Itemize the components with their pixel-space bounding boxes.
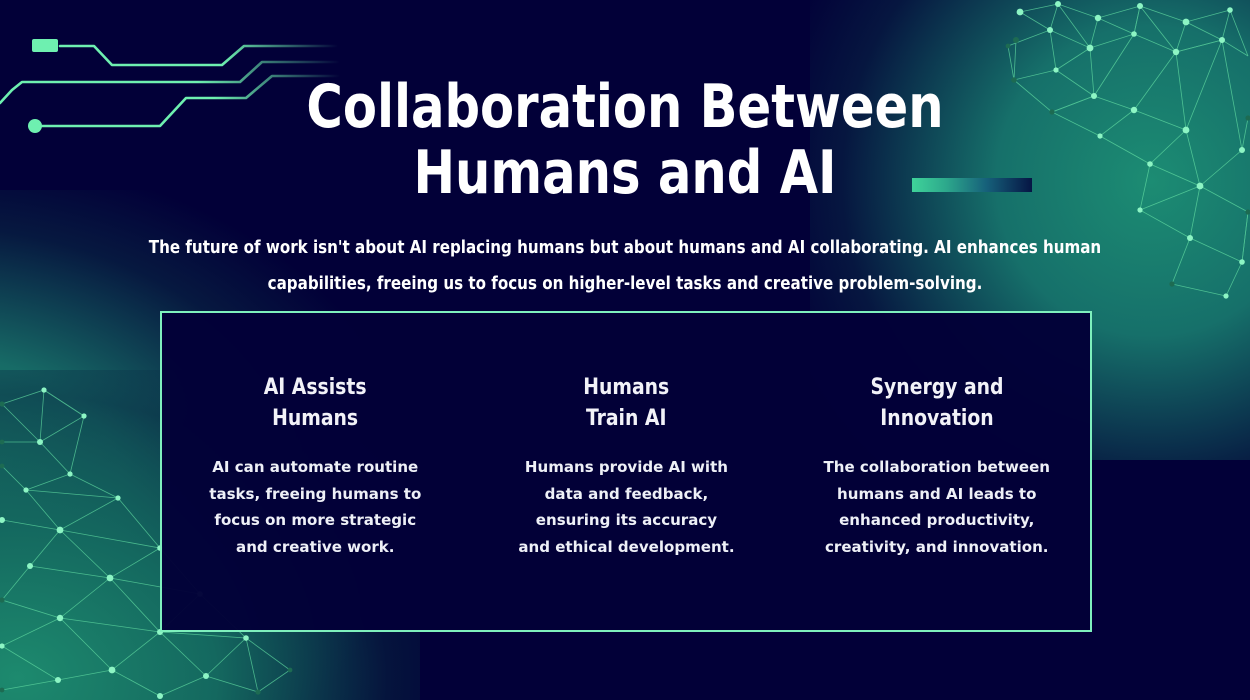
circuit-endpoint-dot bbox=[28, 119, 42, 133]
slide-subtitle: The future of work isn't about AI replac… bbox=[145, 230, 1105, 302]
card-body: Humans provide AI with data and feedback… bbox=[518, 454, 734, 560]
card-title: Humans Train AI bbox=[583, 372, 669, 434]
title-accent-bar bbox=[912, 178, 1032, 192]
card-body: The collaboration between humans and AI … bbox=[823, 454, 1049, 560]
card-humans-train-ai: Humans Train AI Humans provide AI with d… bbox=[471, 372, 782, 560]
card-body: AI can automate routine tasks, freeing h… bbox=[209, 454, 421, 560]
circuit-resistor-node bbox=[32, 39, 58, 52]
cards-container: AI Assists Humans AI can automate routin… bbox=[160, 311, 1092, 632]
card-ai-assists-humans: AI Assists Humans AI can automate routin… bbox=[160, 372, 471, 560]
card-title: AI Assists Humans bbox=[264, 372, 367, 434]
card-title: Synergy and Innovation bbox=[870, 372, 1003, 434]
card-synergy-and-innovation: Synergy and Innovation The collaboration… bbox=[781, 372, 1092, 560]
slide-canvas: Collaboration Between Humans and AI The … bbox=[0, 0, 1250, 700]
